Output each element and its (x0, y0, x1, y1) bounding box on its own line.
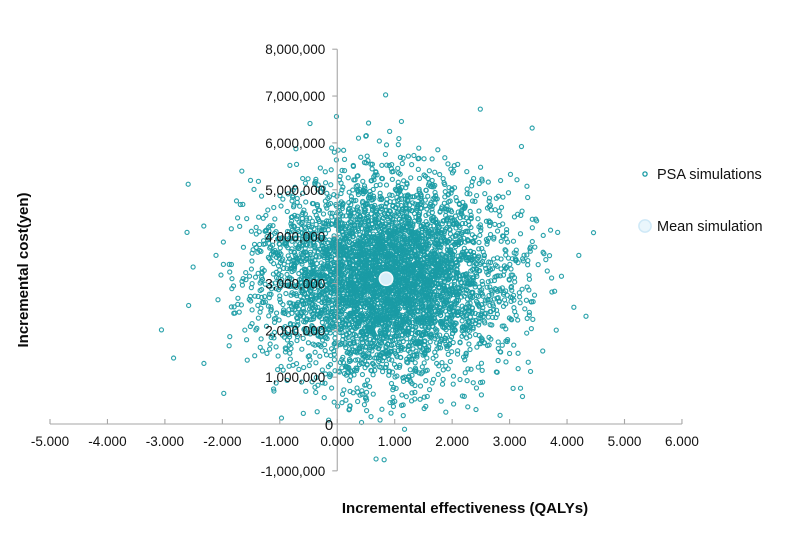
legend-marker-mean-simulation (639, 220, 651, 232)
mean-simulation-point (380, 273, 392, 285)
y-axis-tick-label: 2,000,000 (265, 323, 325, 338)
x-axis-tick-label: -3.000 (146, 434, 184, 449)
x-axis-tick-label: 1.000 (378, 434, 412, 449)
x-axis-tick-label: 5.000 (608, 434, 642, 449)
x-axis-tick-label: -5.000 (31, 434, 69, 449)
cost-effectiveness-scatter-chart: -1,000,00001,000,0002,000,0003,000,0004,… (0, 0, 800, 533)
x-axis-title: Incremental effectiveness (QALYs) (342, 500, 588, 517)
y-axis-title: Incremental cost(yen) (15, 192, 32, 347)
y-axis-tick-label: 6,000,000 (265, 136, 325, 151)
x-axis-tick-label: 3.000 (493, 434, 527, 449)
x-axis-tick-label: 6.000 (665, 434, 699, 449)
x-axis-tick-labels: -5.000-4.000-3.000-2.000-1.0000.0001.000… (31, 434, 699, 449)
x-axis-tick-label: 0.000 (320, 434, 354, 449)
legend-label-mean-simulation: Mean simulation (657, 219, 763, 235)
mean-simulation-marker (379, 271, 394, 286)
legend-label-psa-simulations: PSA simulations (657, 167, 762, 183)
y-axis-origin-label: 0 (325, 417, 333, 434)
y-axis-tick-label: 5,000,000 (265, 183, 325, 198)
x-axis-tick-label: 4.000 (550, 434, 584, 449)
y-axis-tick-label: 3,000,000 (265, 276, 325, 291)
x-axis-tick-label: -1.000 (261, 434, 299, 449)
y-axis-tick-label: 7,000,000 (265, 89, 325, 104)
psa-simulation-points (159, 93, 595, 462)
y-axis-tick-label: 1,000,000 (265, 370, 325, 385)
chart-legend: PSA simulationsMean simulation (639, 167, 763, 235)
chart-canvas: -1,000,00001,000,0002,000,0003,000,0004,… (0, 0, 800, 533)
legend-marker-psa-simulations (643, 172, 647, 176)
x-axis-tick-label: -2.000 (203, 434, 241, 449)
y-axis-tick-label: 4,000,000 (265, 230, 325, 245)
y-axis-tick-label: -1,000,000 (261, 464, 326, 479)
x-axis-tick-label: -4.000 (88, 434, 126, 449)
x-axis-tick-label: 2.000 (435, 434, 469, 449)
y-axis-tick-label: 8,000,000 (265, 42, 325, 57)
